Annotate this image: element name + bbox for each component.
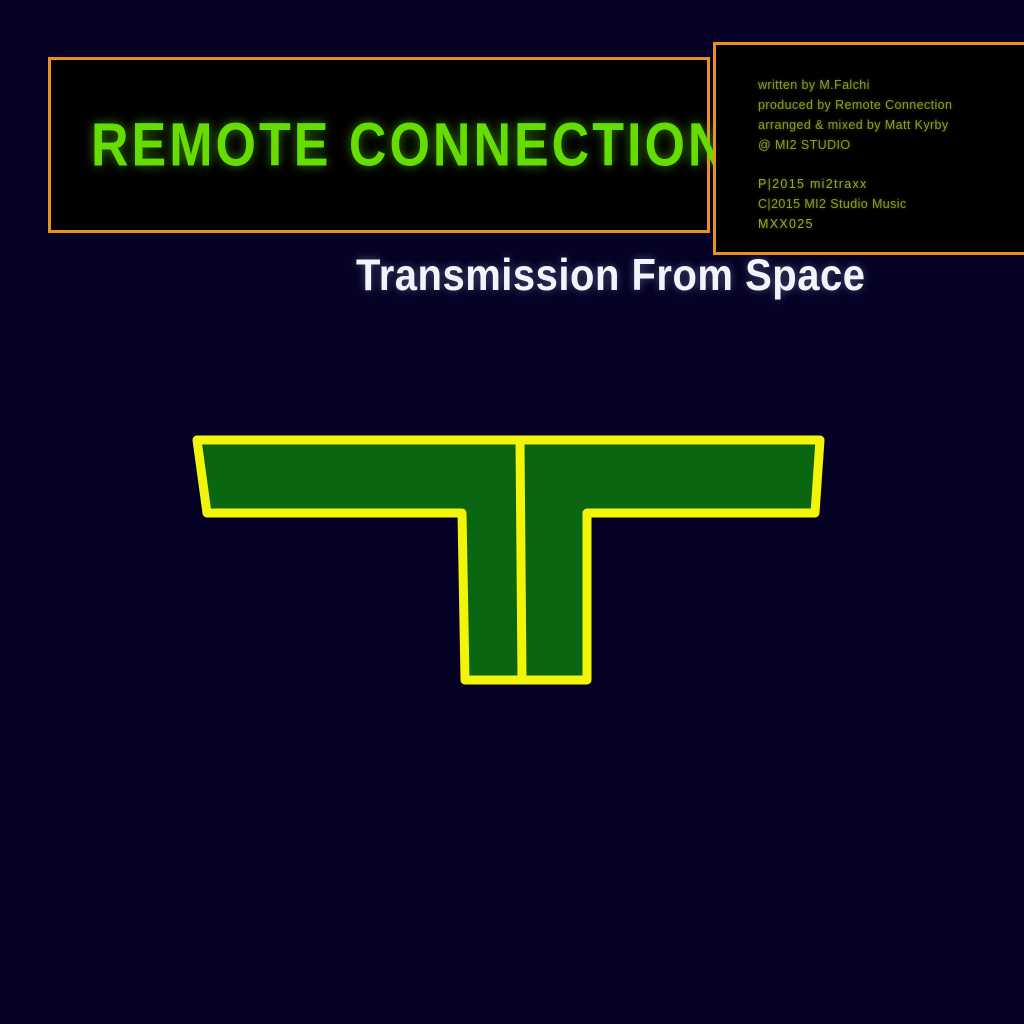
- credit-line-arranged-mixed-by: arranged & mixed by Matt Kyrby: [758, 115, 1024, 135]
- artist-name: REMOTE CONNECTION: [91, 110, 728, 181]
- logo-mark: [175, 425, 840, 700]
- credit-line-written-by: written by M.Falchi: [758, 75, 1024, 95]
- logo-mark-svg: [175, 425, 840, 700]
- credit-line-produced-by: produced by Remote Connection: [758, 95, 1024, 115]
- album-cover: REMOTE CONNECTION written by M.Falchi pr…: [0, 0, 1024, 1024]
- logo-left-glyph: [197, 440, 532, 680]
- credits-panel: written by M.Falchi produced by Remote C…: [713, 42, 1024, 255]
- credit-line-phonographic-rights: P|2015 mi2traxx: [758, 174, 1024, 194]
- credits-spacer: [758, 155, 1024, 174]
- credit-line-copyright: C|2015 MI2 Studio Music: [758, 194, 1024, 214]
- credit-line-catalog-number: MXX025: [758, 214, 1024, 234]
- credits-list: written by M.Falchi produced by Remote C…: [758, 75, 1024, 234]
- artist-name-panel: REMOTE CONNECTION: [48, 57, 710, 233]
- credit-line-studio: @ MI2 STUDIO: [758, 135, 1024, 155]
- logo-right-glyph: [520, 440, 820, 680]
- album-title: Transmission From Space: [356, 251, 865, 301]
